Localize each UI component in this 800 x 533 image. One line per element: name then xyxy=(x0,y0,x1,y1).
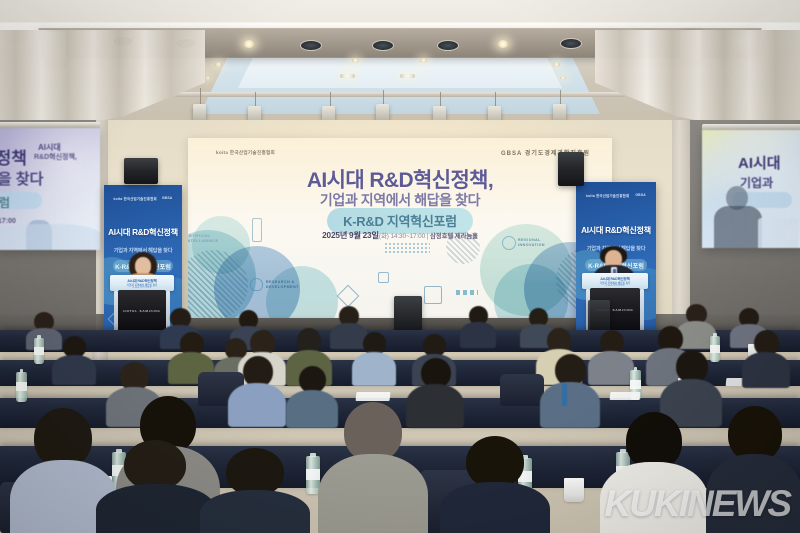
podium-left-sign-line3: K-R&D 지역혁신포럼 xyxy=(110,286,174,289)
wave-icon xyxy=(456,290,478,295)
right-screen-speaker-body xyxy=(714,206,762,248)
date-time: 14:30~17:00 xyxy=(390,233,425,240)
x-banner-right-logo-gbsa: GBSA xyxy=(635,193,646,197)
attendee-body xyxy=(742,352,790,388)
ceiling-lamp xyxy=(372,40,394,51)
right-screen-line2: 기업과 xyxy=(740,174,773,191)
bottle-label xyxy=(34,347,44,355)
handout-paper xyxy=(610,392,641,400)
attendee-body xyxy=(318,454,428,533)
attendee xyxy=(52,336,96,380)
x-banner-left-title: AI시대 R&D혁신정책 xyxy=(104,226,182,238)
downlight xyxy=(215,62,222,67)
pa-speaker-right xyxy=(558,152,584,186)
left-screen-wave xyxy=(0,224,100,250)
left-screen-line1: 신정책 xyxy=(0,144,27,169)
attendee-body xyxy=(352,352,396,386)
water-bottle xyxy=(16,372,27,402)
attendee-body xyxy=(228,383,286,427)
paper-cup xyxy=(564,478,584,502)
lightbulb-icon xyxy=(250,278,263,291)
attendee-body xyxy=(540,382,600,428)
downlight xyxy=(243,40,255,48)
podium-left-sign: AI시대 R&D혁신정책 기업과 지역에서 해답을 찾다 K-R&D 지역혁신포… xyxy=(110,275,174,291)
decor-label-rnd: RESEARCH & DEVELOPMENT xyxy=(266,280,299,291)
x-banner-right-logos: koita 한국산업기술진흥협회 GBSA xyxy=(576,193,656,198)
attendee xyxy=(96,440,216,533)
bottle-label xyxy=(630,380,641,389)
water-bottle xyxy=(34,338,44,364)
left-screen-line4: 30~17:00 xyxy=(0,218,16,225)
downlight xyxy=(560,76,566,80)
attendee-body xyxy=(460,322,496,348)
attendee-body xyxy=(96,484,216,533)
projection-screen-left: 신정책 답을 찾다 포럼 30~17:00 AI시대 R&D혁신정책, xyxy=(0,128,100,250)
projection-screen-right: AI시대 기업과 xyxy=(702,130,800,248)
x-banner-left-logo-koita: koita 한국산업기술진흥협회 xyxy=(114,196,157,201)
attendee-head xyxy=(34,408,92,468)
ceiling-vent xyxy=(340,74,355,78)
square-icon xyxy=(424,286,442,304)
attendee-body xyxy=(52,355,96,385)
cube-icon xyxy=(337,285,360,308)
ceiling-vent xyxy=(400,74,415,78)
attendee-head xyxy=(124,440,186,490)
date-month: 9월 xyxy=(349,231,361,240)
date-dow: (화) xyxy=(379,233,389,240)
downlight xyxy=(497,40,509,48)
attendee-head xyxy=(226,448,284,496)
right-screen-podium xyxy=(758,218,798,248)
attendee xyxy=(540,354,600,424)
venue-name: 삼정호텔 제라늄홀 xyxy=(430,233,478,240)
ceiling-lamp xyxy=(300,40,322,51)
left-screen-overlay-sub: R&D혁신정책, xyxy=(34,152,77,162)
x-banner-right-title: AI시대 R&D혁신정책 xyxy=(576,224,656,236)
ceiling-lamp xyxy=(560,38,582,49)
attendee xyxy=(460,306,496,342)
downlight xyxy=(352,58,359,63)
date-separator: | xyxy=(427,233,429,240)
backdrop-logo-koita: koita 한국산업기술진흥협회 xyxy=(216,150,275,156)
attendee-body xyxy=(440,482,550,533)
attendee xyxy=(440,436,550,533)
small-square-icon xyxy=(378,272,389,283)
pa-speaker-left xyxy=(124,158,158,184)
attendee xyxy=(318,402,428,533)
attendee-head xyxy=(344,402,402,462)
attendee xyxy=(200,448,310,533)
downlight xyxy=(420,58,427,63)
backdrop-subtitle: 기업과 지역에서 해답을 찾다 xyxy=(188,190,612,210)
backdrop-date-line: 2025년 9월 23일(화) 14:30~17:00 | 삼정호텔 제라늄홀 xyxy=(188,229,612,241)
ceiling xyxy=(0,0,800,132)
left-screen-line2: 답을 찾다 xyxy=(0,168,43,189)
decor-dot-grid xyxy=(384,242,430,255)
right-screen-line1: AI시대 xyxy=(738,152,781,173)
attendee-body xyxy=(200,490,310,533)
photo-conference-hall: koita 한국산업기술진흥협회 신정책 답을 찾다 포럼 30~17:00 A… xyxy=(0,0,800,533)
date-day: 23일 xyxy=(363,231,379,240)
downlight xyxy=(553,62,560,67)
podium-right-sign-line3: K-R&D 지역혁신포럼 xyxy=(582,284,648,287)
date-year: 2025년 xyxy=(322,231,347,240)
left-screen-line3: 포럼 xyxy=(0,194,10,211)
handout-paper xyxy=(356,392,391,401)
attendee-body xyxy=(600,462,708,533)
lanyard xyxy=(562,384,567,406)
downlight xyxy=(205,76,211,80)
chair-back xyxy=(500,374,544,406)
podium-right-sign: AI시대 R&D혁신정책 기업과 지역에서 해답을 찾다 K-R&D 지역혁신포… xyxy=(582,273,648,289)
attendee xyxy=(706,406,800,533)
attendee-body xyxy=(706,454,800,533)
attendee xyxy=(600,412,708,533)
attendee xyxy=(228,356,286,422)
x-banner-left-logo-gbsa: GBSA xyxy=(162,196,173,200)
ceiling-lamp xyxy=(437,40,459,51)
attendee xyxy=(742,330,790,386)
lighting-truss xyxy=(175,92,625,97)
x-banner-left-logos: koita 한국산업기술진흥협회 GBSA xyxy=(104,196,182,201)
bottle-label xyxy=(16,382,27,391)
attendee-head xyxy=(466,436,524,488)
x-banner-right-logo-koita: koita 한국산업기술진흥협회 xyxy=(586,193,629,198)
attendee xyxy=(352,332,396,382)
podium-right-rail xyxy=(640,289,644,336)
attendee-head xyxy=(299,366,326,393)
